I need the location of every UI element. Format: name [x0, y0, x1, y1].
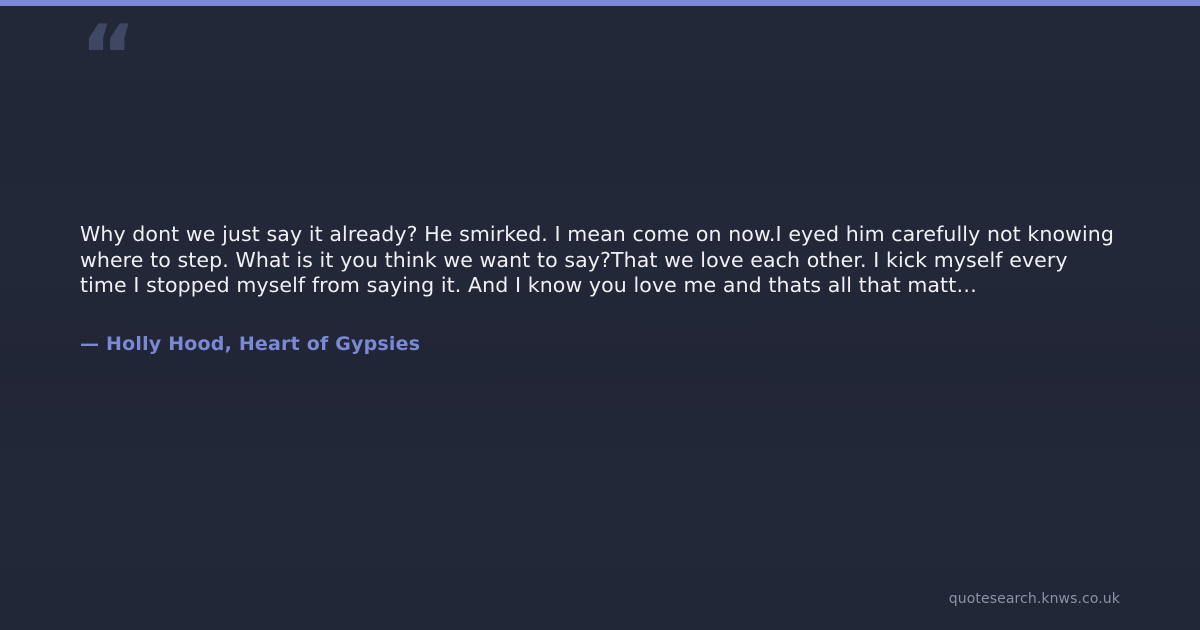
quote-card: “ Why dont we just say it already? He sm… — [0, 0, 1200, 630]
open-quote-icon: “ — [80, 14, 135, 100]
quote-content: Why dont we just say it already? He smir… — [80, 222, 1120, 356]
top-accent-bar — [0, 0, 1200, 6]
quote-attribution: — Holly Hood, Heart of Gypsies — [80, 299, 1120, 356]
source-site-label: quotesearch.knws.co.uk — [949, 590, 1120, 608]
quote-text: Why dont we just say it already? He smir… — [80, 222, 1120, 299]
